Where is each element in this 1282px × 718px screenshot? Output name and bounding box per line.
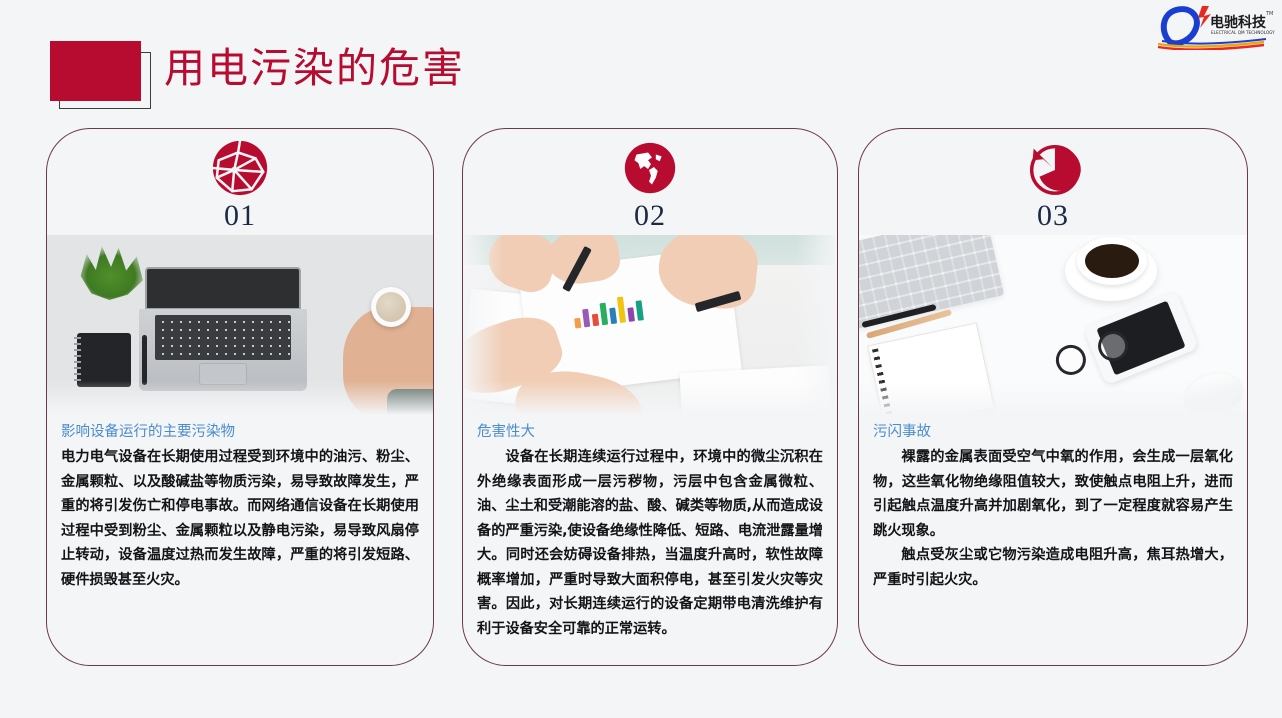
coffee-cup-shape — [371, 287, 411, 327]
card-02-text: 设备在长期连续运行过程中，环境中的微尘沉积在外绝缘表面形成一层污秽物，污层中包含… — [477, 445, 823, 641]
card-03-photo — [859, 235, 1247, 415]
card-02-head: 02 — [463, 129, 837, 235]
plant-shape — [73, 243, 149, 303]
laptop-keyboard — [155, 315, 291, 360]
card-01-subtitle: 影响设备运行的主要污染物 — [61, 421, 419, 443]
card-03-number: 03 — [859, 199, 1247, 233]
card-03: 03 污闪事故 裸露的金属表面受空气中氧的作用，会生成一层氧化物，这些氧化物绝缘… — [858, 128, 1248, 666]
laptop-trackpad — [199, 363, 247, 385]
logo-brand-cn: 电驰科技 — [1210, 14, 1267, 31]
page-header: 用电污染的危害 — [46, 30, 746, 120]
sleeve-shape — [387, 389, 433, 415]
page-title: 用电污染的危害 — [164, 37, 465, 99]
card-01-number: 01 — [47, 199, 433, 233]
pen-shape — [142, 335, 147, 385]
pie-slice-circle-icon — [1022, 137, 1084, 199]
card-02-paragraph: 设备在长期连续运行过程中，环境中的微尘沉积在外绝缘表面形成一层污秽物，污层中包含… — [477, 445, 823, 641]
card-01-photo — [47, 235, 433, 415]
mouse-shape — [1181, 368, 1245, 415]
card-02-number: 02 — [463, 199, 837, 233]
card-03-body: 污闪事故 裸露的金属表面受空气中氧的作用，会生成一层氧化物，这些氧化物绝缘阻值较… — [859, 415, 1247, 592]
card-01: 01 影响设备运行的主要污染物 电力电气设备在长期使用过程受到环境中的油污、粉尘… — [46, 128, 434, 666]
card-01-body: 影响设备运行的主要污染物 电力电气设备在长期使用过程受到环境中的油污、粉尘、金属… — [47, 415, 433, 592]
laptop-screen — [145, 267, 301, 310]
header-red-block — [50, 41, 141, 101]
card-01-paragraph: 电力电气设备在长期使用过程受到环境中的油污、粉尘、金属颗粒、以及酸碱盐等物质污染… — [61, 445, 419, 592]
card-02-photo — [463, 235, 837, 415]
coffee-cup-shape — [1077, 237, 1147, 285]
globe-americas-icon — [619, 137, 681, 199]
card-01-head: 01 — [47, 129, 433, 235]
logo-trademark: TM — [1265, 11, 1273, 17]
card-03-paragraph: 触点受灰尘或它物污染造成电阻升高，焦耳热增大，严重时引起火灾。 — [873, 543, 1233, 592]
brand-logo: 电驰科技 ELECTRICAL QM TECHNOLOGY TM — [1156, 2, 1276, 50]
logo-brand-en: ELECTRICAL QM TECHNOLOGY — [1211, 30, 1275, 35]
card-02: 02 — [462, 128, 838, 666]
card-01-text: 电力电气设备在长期使用过程受到环境中的油污、粉尘、金属颗粒、以及酸碱盐等物质污染… — [61, 445, 419, 592]
card-03-head: 03 — [859, 129, 1247, 235]
notepad-shape — [867, 322, 995, 415]
cracked-network-globe-icon — [209, 137, 271, 199]
card-03-paragraph: 裸露的金属表面受空气中氧的作用，会生成一层氧化物，这些氧化物绝缘阻值较大，致使触… — [873, 445, 1233, 543]
paper-sheet-stack — [680, 365, 833, 415]
card-03-text: 裸露的金属表面受空气中氧的作用，会生成一层氧化物，这些氧化物绝缘阻值较大，致使触… — [873, 445, 1233, 592]
cards-row: 01 影响设备运行的主要污染物 电力电气设备在长期使用过程受到环境中的油污、粉尘… — [0, 128, 1282, 688]
card-02-subtitle: 危害性大 — [477, 421, 823, 443]
notebook-shape — [77, 333, 131, 387]
logo-graphic: 电驰科技 ELECTRICAL QM TECHNOLOGY TM — [1156, 2, 1276, 50]
card-02-body: 危害性大 设备在长期连续运行过程中，环境中的微尘沉积在外绝缘表面形成一层污秽物，… — [463, 415, 837, 641]
card-03-subtitle: 污闪事故 — [873, 421, 1233, 443]
